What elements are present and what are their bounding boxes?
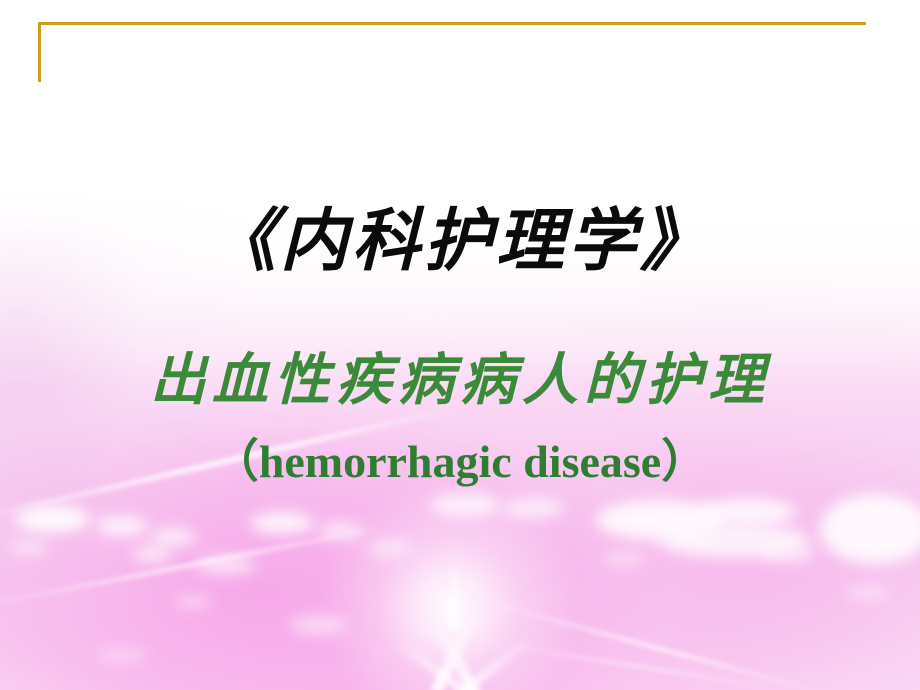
bokeh-blob [846,586,890,600]
bokeh-blob [596,500,726,540]
slide-background-base [0,0,920,690]
light-streak-group [0,0,920,690]
bokeh-blob [96,648,148,662]
gold-vertical-rule [38,22,41,82]
slide-title-chinese: 《内科护理学》 [0,206,920,277]
bokeh-blob [10,540,48,554]
light-burst [0,0,920,690]
light-ray-group [0,0,920,690]
light-streak [0,524,392,610]
slide-text-stack: 《内科护理学》 出血性疾病病人的护理 （hemorrhagic disease） [0,0,920,690]
bokeh-group [0,0,920,690]
bokeh-blob [760,546,816,562]
presentation-slide: 《内科护理学》 出血性疾病病人的护理 （hemorrhagic disease） [0,0,920,690]
light-ray [442,635,534,690]
bokeh-blob [16,506,90,532]
bokeh-blob [700,498,796,526]
light-streak [469,596,818,690]
bokeh-blob [504,498,564,518]
slide-subtitle-chinese: 出血性疾病病人的护理 [0,352,920,411]
bokeh-blob [290,616,346,634]
bokeh-blob [820,494,920,564]
light-streak [0,403,467,525]
bokeh-blob [150,528,196,546]
light-streak [480,640,777,690]
bokeh-blob [250,512,314,534]
light-ray [426,608,482,690]
slide-background-haze [0,0,920,690]
slide-background-top-wash [0,0,920,690]
bokeh-blob [430,494,500,516]
bokeh-blob [132,546,172,562]
bokeh-blob [604,552,644,566]
bokeh-blob [368,540,412,556]
bokeh-blob [176,596,210,608]
bokeh-blob [196,556,256,574]
light-ray [448,560,460,630]
light-ray [431,607,482,690]
bokeh-blob [318,522,364,540]
gold-horizontal-rule [38,22,866,25]
bokeh-blob [96,516,148,536]
slide-subtitle-english: （hemorrhagic disease） [0,437,920,488]
slide-background-magenta [0,0,920,690]
light-ray [392,637,485,690]
bokeh-blob [660,524,810,558]
